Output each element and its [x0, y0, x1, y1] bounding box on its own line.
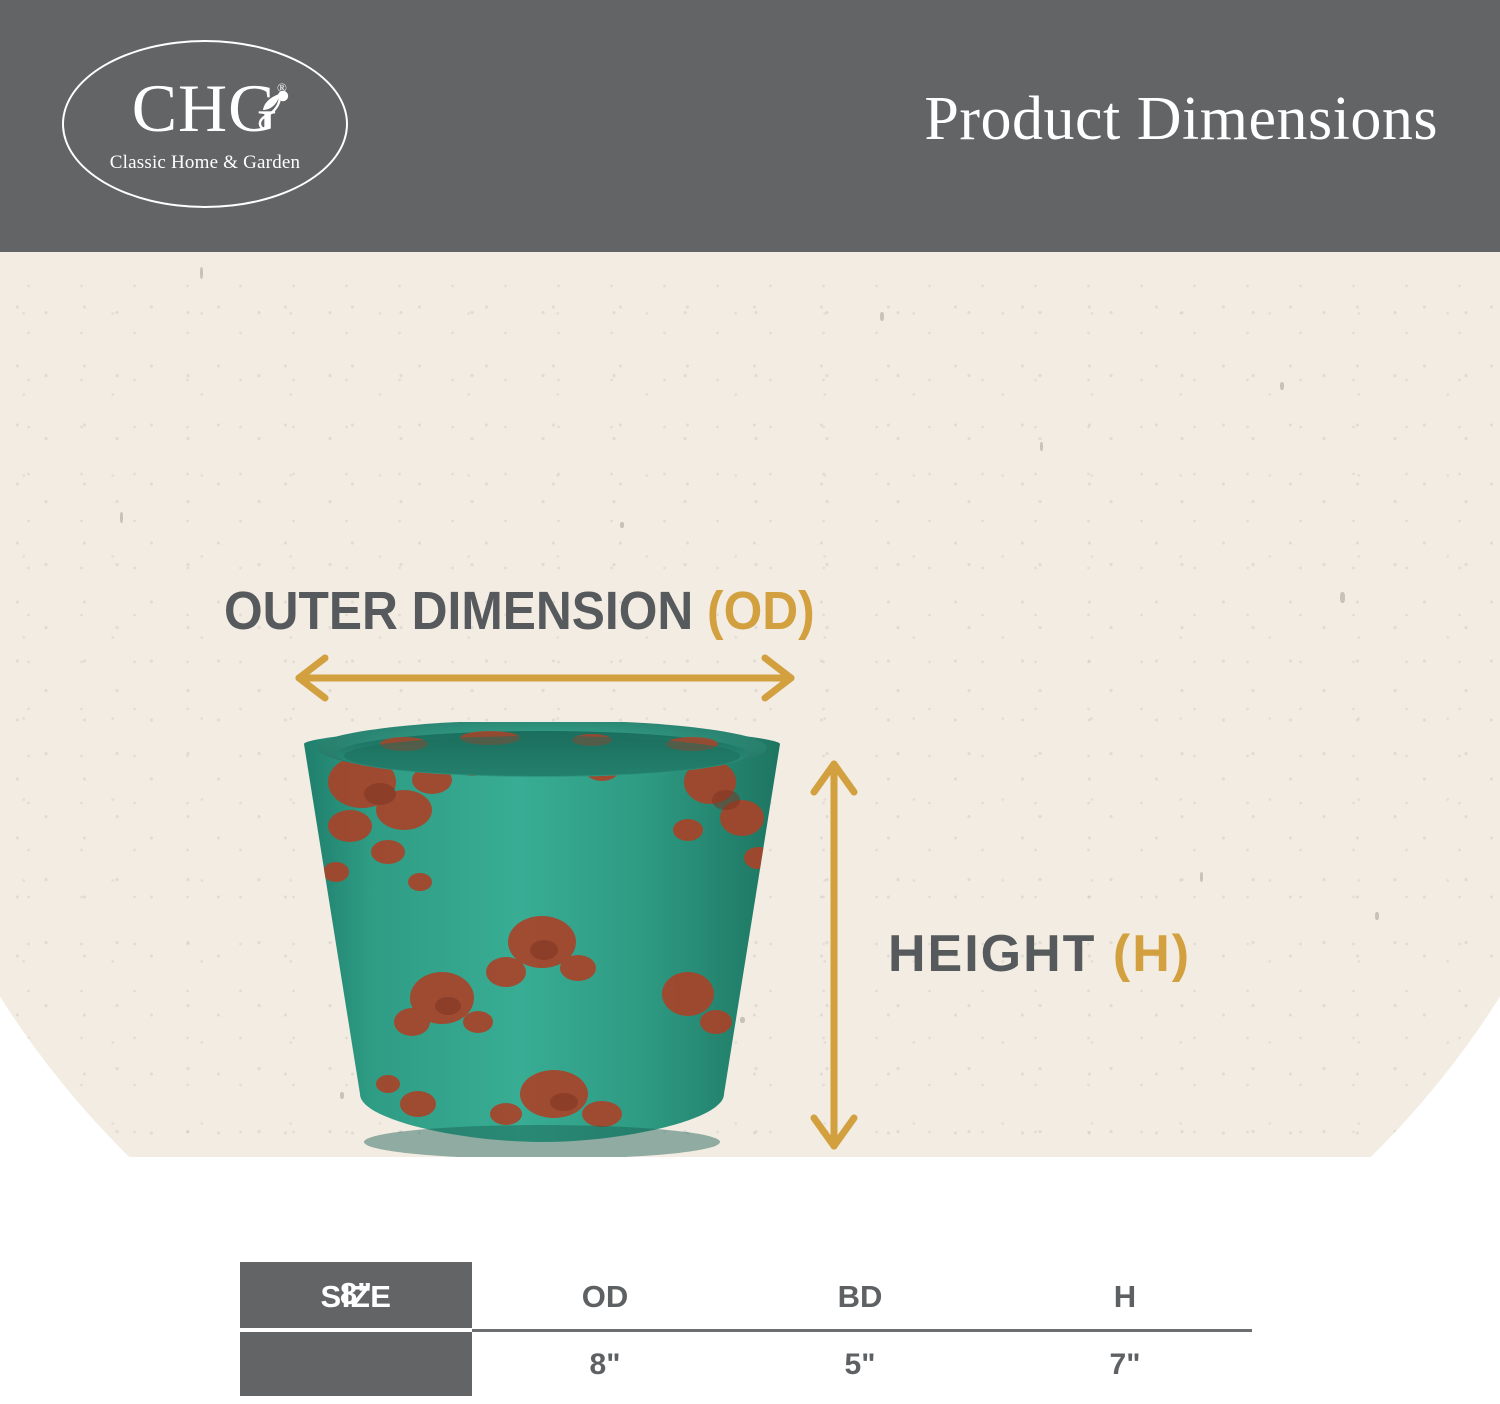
od-value: 8" [535, 1348, 675, 1382]
planter-pot-image [292, 722, 792, 1157]
size-value-cell [240, 1332, 472, 1396]
page-title: Product Dimensions [924, 84, 1438, 155]
outer-dimension-abbr: (OD) [707, 581, 815, 641]
od-column-header: OD [535, 1279, 675, 1315]
logo-monogram: CHG [62, 74, 348, 142]
product-dimensions-infographic: CHG ® Classic Home & Garden Product Dime… [0, 0, 1500, 1404]
logo-tagline: Classic Home & Garden [62, 152, 348, 174]
table-header-divider [472, 1329, 1252, 1332]
leaf-sprout-icon [250, 88, 296, 130]
header-bar: CHG ® Classic Home & Garden Product Dime… [0, 0, 1500, 252]
height-arrow-icon [806, 752, 862, 1157]
bd-column-header: BD [790, 1279, 930, 1315]
height-name: HEIGHT [888, 925, 1096, 983]
size-value-text: 8" [240, 1276, 472, 1312]
outer-dimension-name: OUTER DIMENSION [224, 581, 693, 641]
bd-value: 5" [790, 1348, 930, 1382]
height-label: HEIGHT (H) [888, 928, 1191, 980]
chg-logo: CHG ® Classic Home & Garden [62, 40, 352, 212]
dimensions-table: SIZE OD BD H 8" 8" 5" 7" [240, 1262, 1252, 1396]
outer-dimension-arrow-icon [285, 650, 805, 706]
h-value: 7" [1055, 1348, 1195, 1382]
height-abbr: (H) [1113, 925, 1191, 983]
outer-dimension-label: OUTER DIMENSION (OD) [224, 584, 815, 638]
registered-trademark-icon: ® [277, 80, 287, 96]
diagram-panel: OUTER DIMENSION (OD) HEIGHT (H) BASE DIM… [0, 252, 1500, 1157]
h-column-header: H [1055, 1279, 1195, 1315]
